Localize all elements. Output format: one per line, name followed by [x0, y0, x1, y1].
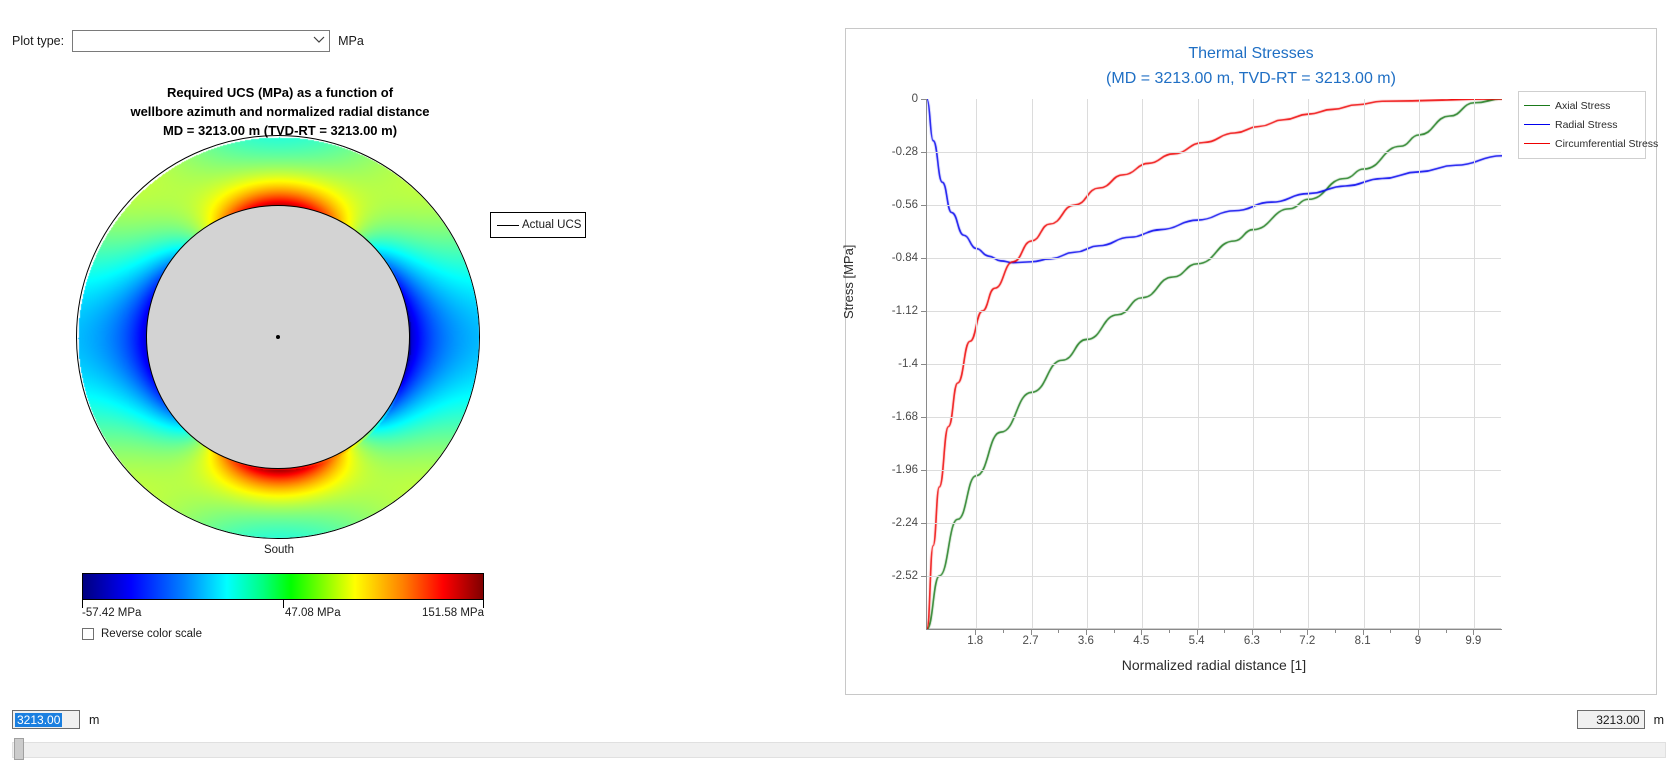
chart-x-tick-label: 1.8	[967, 635, 983, 647]
colorbar-label-min: -57.42 MPa	[82, 607, 141, 619]
chart-y-tick-label: -1.12	[892, 305, 918, 317]
chart-title-main: Thermal Stresses	[846, 41, 1656, 66]
colorbar-ticks: -57.42 MPa 47.08 MPa 151.58 MPa	[82, 600, 484, 618]
depth-slider-thumb[interactable]	[14, 738, 24, 760]
app-root: Plot type: MPa Required UCS (MPa) as a f…	[0, 0, 1680, 784]
chart-y-tick-mark	[921, 205, 926, 206]
chart-x-tick-label: 5.4	[1189, 635, 1205, 647]
chart-y-tick-mark	[921, 470, 926, 471]
plot-type-unit: MPa	[338, 34, 364, 48]
depth-input-right-value: 3213.00	[1596, 713, 1639, 727]
colorbar-group: -57.42 MPa 47.08 MPa 151.58 MPa	[82, 573, 484, 618]
colorbar-label-mid: 47.08 MPa	[285, 607, 341, 619]
chart-x-tick-minor	[1003, 630, 1004, 633]
chart-y-tick-label: -0.84	[892, 252, 918, 264]
chart-y-tick-mark	[921, 258, 926, 259]
chart-y-tick-mark	[921, 523, 926, 524]
polar-plot-panel: Required UCS (MPa) as a function of well…	[0, 60, 780, 660]
chart-x-axis-label: Normalized radial distance [1]	[926, 657, 1502, 673]
chart-x-tick-minor	[1390, 630, 1391, 633]
chart-legend: Axial StressRadial StressCircumferential…	[1518, 91, 1646, 159]
chart-gridline-horizontal	[927, 258, 1501, 259]
chart-y-tick-mark	[921, 417, 926, 418]
chart-x-tick-mark	[1141, 630, 1142, 635]
chart-x-tick-label: 6.3	[1244, 635, 1260, 647]
chart-legend-line-icon	[1524, 143, 1550, 144]
reverse-color-scale-label: Reverse color scale	[101, 628, 202, 640]
chart-x-tick-minor	[1446, 630, 1447, 633]
chart-y-tick-label: -1.4	[898, 358, 918, 370]
chart-x-tick-mark	[1363, 630, 1364, 635]
chart-gridline-horizontal	[927, 311, 1501, 312]
chart-x-tick-minor	[1058, 630, 1059, 633]
chart-y-tick-label: -0.28	[892, 146, 918, 158]
colorbar-tick-mid	[283, 600, 284, 608]
depth-input-left[interactable]: 3213.00	[12, 710, 80, 729]
chart-x-tick-minor	[1224, 630, 1225, 633]
plot-type-dropdown[interactable]	[72, 30, 330, 52]
chart-gridline-horizontal	[927, 205, 1501, 206]
chart-x-tick-label: 7.2	[1299, 635, 1315, 647]
chart-x-tick-mark	[1418, 630, 1419, 635]
chart-gridline-horizontal	[927, 364, 1501, 365]
chart-y-tick-label: -1.96	[892, 464, 918, 476]
depth-left-unit: m	[89, 713, 99, 727]
polar-legend-label: Actual UCS	[522, 219, 581, 231]
polar-legend-line-icon	[497, 225, 519, 226]
depth-right-unit: m	[1654, 713, 1664, 727]
chart-y-tick-mark	[921, 311, 926, 312]
chart-legend-label: Circumferential Stress	[1555, 138, 1658, 150]
depth-slider-track[interactable]	[12, 742, 1666, 758]
chart-y-tick-label: -2.52	[892, 570, 918, 582]
polar-plot-title: Required UCS (MPa) as a function of well…	[70, 83, 490, 140]
chart-x-tick-mark	[1473, 630, 1474, 635]
polar-title-line-1: Required UCS (MPa) as a function of	[70, 83, 490, 102]
chart-gridline-horizontal	[927, 152, 1501, 153]
chart-x-tick-mark	[1197, 630, 1198, 635]
chart-x-tick-label: 9	[1415, 635, 1421, 647]
chevron-down-icon	[309, 36, 329, 47]
chart-gridline-horizontal	[927, 470, 1501, 471]
chart-gridline-horizontal	[927, 417, 1501, 418]
chart-x-tick-mark	[1086, 630, 1087, 635]
chart-legend-line-icon	[1524, 105, 1550, 106]
chart-gridline-horizontal	[927, 523, 1501, 524]
chart-legend-item[interactable]: Circumferential Stress	[1524, 134, 1640, 153]
chart-x-tick-mark	[1307, 630, 1308, 635]
chart-x-tick-label: 8.1	[1355, 635, 1371, 647]
chart-x-tick-mark	[975, 630, 976, 635]
chart-y-tick-label: -2.24	[892, 517, 918, 529]
chart-x-tick-mark	[1031, 630, 1032, 635]
chart-legend-label: Axial Stress	[1555, 100, 1610, 112]
chart-gridline-horizontal	[927, 576, 1501, 577]
chart-legend-label: Radial Stress	[1555, 119, 1617, 131]
chart-plot-area	[926, 99, 1501, 629]
wellbore-center-point	[276, 335, 280, 339]
chart-y-axis-label: Stress [MPa]	[841, 245, 856, 319]
reverse-color-scale-checkbox[interactable]	[82, 628, 94, 640]
chart-y-tick-label: -1.68	[892, 411, 918, 423]
chart-legend-line-icon	[1524, 124, 1550, 125]
chart-x-tick-minor	[1114, 630, 1115, 633]
chart-title-subtitle: (MD = 3213.00 m, TVD-RT = 3213.00 m)	[846, 66, 1656, 91]
toolbar: Plot type: MPa	[12, 30, 364, 52]
depth-input-left-group: 3213.00 m	[12, 710, 99, 729]
chart-x-axis-line	[926, 629, 1502, 630]
chart-x-tick-minor	[1169, 630, 1170, 633]
chart-x-tick-label: 4.5	[1133, 635, 1149, 647]
chart-y-axis-line	[926, 99, 927, 630]
depth-input-right-group: 3213.00 m	[1577, 710, 1664, 729]
depth-input-right[interactable]: 3213.00	[1577, 710, 1645, 729]
chart-x-tick-minor	[1335, 630, 1336, 633]
chart-y-tick-mark	[921, 364, 926, 365]
compass-south-label: South	[76, 544, 482, 556]
polar-legend: Actual UCS	[490, 212, 586, 238]
polar-title-line-2: wellbore azimuth and normalized radial d…	[70, 102, 490, 121]
polar-plot-figure	[76, 135, 482, 541]
plot-type-label: Plot type:	[12, 34, 64, 48]
chart-x-tick-mark	[1252, 630, 1253, 635]
depth-input-left-value: 3213.00	[15, 713, 62, 727]
chart-title: Thermal Stresses (MD = 3213.00 m, TVD-RT…	[846, 41, 1656, 91]
colorbar-gradient	[82, 573, 484, 600]
chart-y-tick-label: -0.56	[892, 199, 918, 211]
chart-x-tick-label: 2.7	[1023, 635, 1039, 647]
chart-legend-item[interactable]: Radial Stress	[1524, 115, 1640, 134]
chart-y-tick-label: 0	[912, 93, 918, 105]
colorbar-label-max: 151.58 MPa	[422, 607, 484, 619]
chart-y-tick-mark	[921, 576, 926, 577]
chart-legend-item[interactable]: Axial Stress	[1524, 96, 1640, 115]
chart-x-tick-label: 3.6	[1078, 635, 1094, 647]
reverse-color-scale-row[interactable]: Reverse color scale	[82, 628, 202, 640]
thermal-stresses-chart: Thermal Stresses (MD = 3213.00 m, TVD-RT…	[845, 28, 1657, 695]
chart-y-tick-mark	[921, 99, 926, 100]
chart-x-tick-minor	[1280, 630, 1281, 633]
chart-y-tick-mark	[921, 152, 926, 153]
chart-x-tick-label: 9.9	[1465, 635, 1481, 647]
